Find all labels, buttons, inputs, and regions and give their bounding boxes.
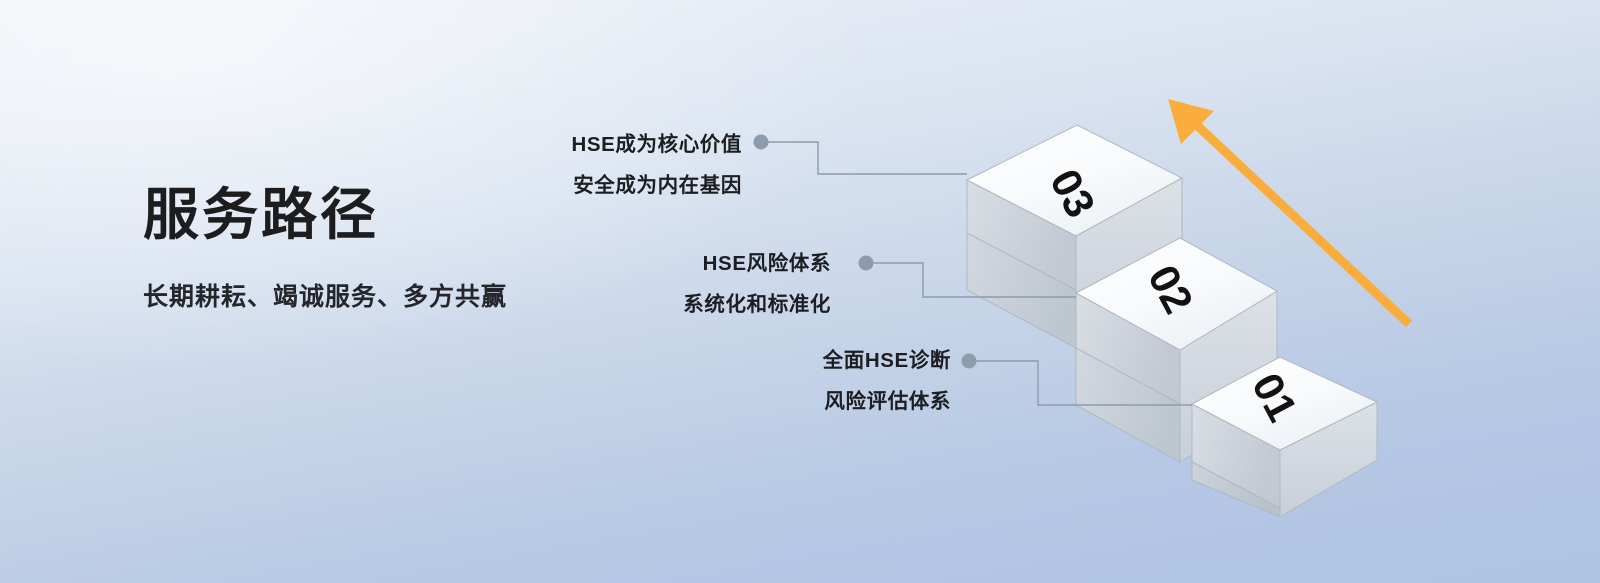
slide-canvas: 服务路径 长期耕耘、竭诚服务、多方共赢 HSE成为核心价值 安全成为内在基因 H…	[0, 0, 1600, 583]
isometric-staircase-diagram: 03 02 01	[0, 0, 1600, 583]
connector-03	[754, 135, 968, 175]
connector-03-line	[766, 142, 967, 174]
connector-03-dot	[754, 135, 769, 150]
connector-01-dot	[962, 354, 977, 369]
connector-02-dot	[859, 256, 874, 271]
